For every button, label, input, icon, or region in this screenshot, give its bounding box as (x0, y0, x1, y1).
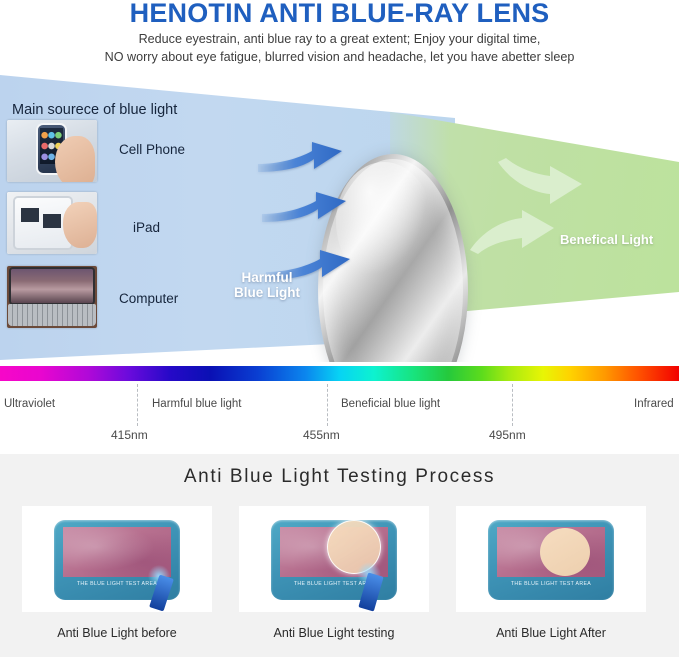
spectrum-value-415nm: 415nm (111, 428, 148, 442)
harmful-line-1: Harmful (241, 270, 292, 285)
subtitle-line-1: Reduce eyestrain, anti blue ray to a gre… (0, 32, 679, 46)
device-label-computer: Computer (119, 291, 178, 306)
green-arrow-icon-1 (496, 158, 586, 204)
process-panel-after: THE BLUE LIGHT TEST AREA (456, 506, 646, 612)
light-spectrum-section: Ultraviolet Harmful blue light Beneficia… (0, 362, 679, 454)
panel-caption-before: Anti Blue Light before (22, 626, 212, 640)
spectrum-gradient-bar (0, 366, 679, 381)
test-device-3: THE BLUE LIGHT TEST AREA (488, 520, 614, 600)
device-photo-computer (7, 266, 97, 328)
device-photo-ipad (7, 192, 97, 254)
subtitle-line-2: NO worry about eye fatigue, blurred visi… (0, 50, 679, 64)
page-title: HENOTIN ANTI BLUE-RAY LENS (0, 0, 679, 29)
spectrum-tick-415 (137, 384, 138, 426)
test-area-text-3: THE BLUE LIGHT TEST AREA (497, 581, 605, 587)
sources-title: Main sourece of blue light (12, 102, 177, 118)
device-photo-cell-phone (7, 120, 97, 182)
spectrum-value-495nm: 495nm (489, 428, 526, 442)
header: HENOTIN ANTI BLUE-RAY LENS Reduce eyestr… (0, 0, 679, 72)
blocked-light-patch-3 (540, 528, 590, 576)
spectrum-label-ultraviolet: Ultraviolet (4, 398, 55, 410)
spectrum-label-harmful-blue-light: Harmful blue light (152, 398, 241, 410)
device-label-ipad: iPad (133, 220, 160, 235)
blue-arrow-icon-1 (258, 142, 344, 182)
test-device-1: THE BLUE LIGHT TEST AREA (54, 520, 180, 600)
spectrum-tick-455 (327, 384, 328, 426)
panel-caption-testing: Anti Blue Light testing (239, 626, 429, 640)
lens-illustration: Main sourece of blue light Cell Phone iP… (0, 70, 679, 362)
harmful-blue-light-label: Harmful Blue Light (212, 270, 322, 300)
testing-process-section: Anti Blue Light Testing Process THE BLUE… (0, 454, 679, 657)
blue-arrow-icon-2 (262, 192, 348, 232)
process-panel-testing: THE BLUE LIGHT TEST AREA (239, 506, 429, 612)
green-arrow-icon-2 (468, 210, 558, 256)
device-label-cell-phone: Cell Phone (119, 142, 185, 157)
test-device-2: THE BLUE LIGHT TEST AREA (271, 520, 397, 600)
spectrum-label-beneficial-blue-light: Beneficial blue light (341, 398, 440, 410)
panel-caption-after: Anti Blue Light After (456, 626, 646, 640)
spectrum-tick-495 (512, 384, 513, 426)
spectrum-label-infrared: Infrared (634, 398, 674, 410)
harmful-line-2: Blue Light (234, 285, 300, 300)
process-title: Anti Blue Light Testing Process (0, 466, 679, 488)
spectrum-value-455nm: 455nm (303, 428, 340, 442)
process-panel-before: THE BLUE LIGHT TEST AREA (22, 506, 212, 612)
beneficial-light-label: Benefical Light (560, 232, 675, 247)
